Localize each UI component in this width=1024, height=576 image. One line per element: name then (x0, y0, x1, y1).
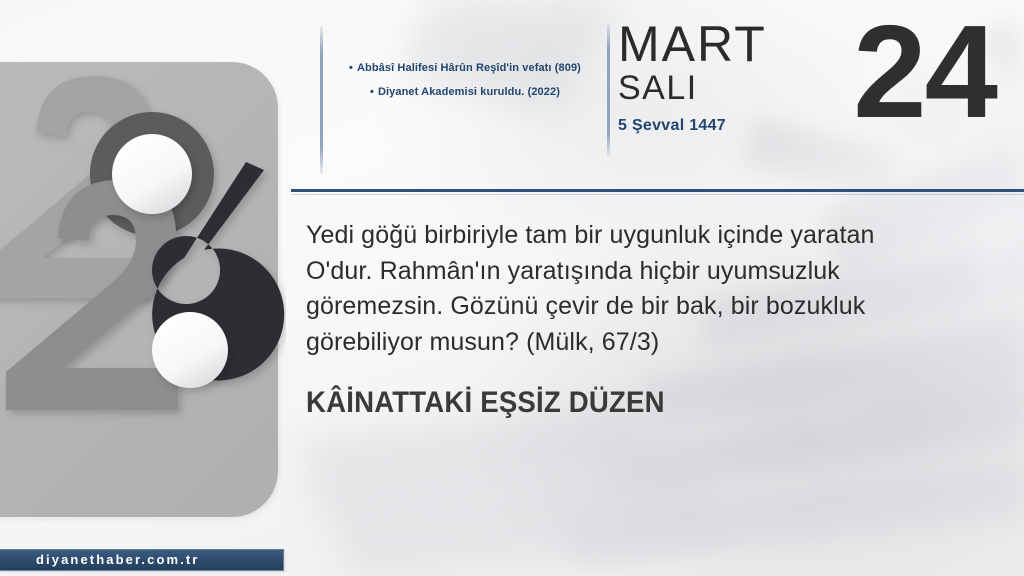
month-label: MART (618, 20, 848, 68)
logo-sphere-bottom (152, 312, 228, 388)
events-list: •Abbâsî Halifesi Hârûn Reşîd'in vefatı (… (336, 62, 594, 110)
bullet-icon: • (370, 87, 374, 98)
vertical-divider-middle (607, 24, 610, 156)
day-number: 24 (853, 6, 996, 138)
day-name-label: SALI (618, 70, 848, 107)
vertical-divider-left (320, 26, 323, 174)
year-logo-svg (0, 62, 286, 517)
footer-url-label: diyanethaber.com.tr (36, 552, 199, 567)
quote-text: Yedi göğü birbiriyle tam bir uygunluk iç… (306, 218, 916, 360)
horizontal-divider-rule-soft (291, 194, 1024, 195)
bullet-icon: • (349, 63, 353, 74)
hijri-date-label: 5 Şevval 1447 (618, 117, 848, 135)
event-item: •Diyanet Akademisi kuruldu. (2022) (336, 86, 594, 100)
horizontal-divider-rule (291, 189, 1024, 192)
calendar-page: •Abbâsî Halifesi Hârûn Reşîd'in vefatı (… (0, 0, 1024, 576)
date-heading: MART SALI 5 Şevval 1447 (618, 20, 848, 135)
page-title: KÂİNATTAKİ EŞSİZ DÜZEN (306, 386, 665, 420)
logo-sphere-top (112, 134, 192, 214)
event-item: •Abbâsî Halifesi Hârûn Reşîd'in vefatı (… (336, 62, 594, 76)
event-item-label: Abbâsî Halifesi Hârûn Reşîd'in vefatı (8… (357, 62, 581, 74)
event-item-label: Diyanet Akademisi kuruldu. (2022) (378, 86, 560, 98)
year-logo-2026 (0, 62, 286, 517)
